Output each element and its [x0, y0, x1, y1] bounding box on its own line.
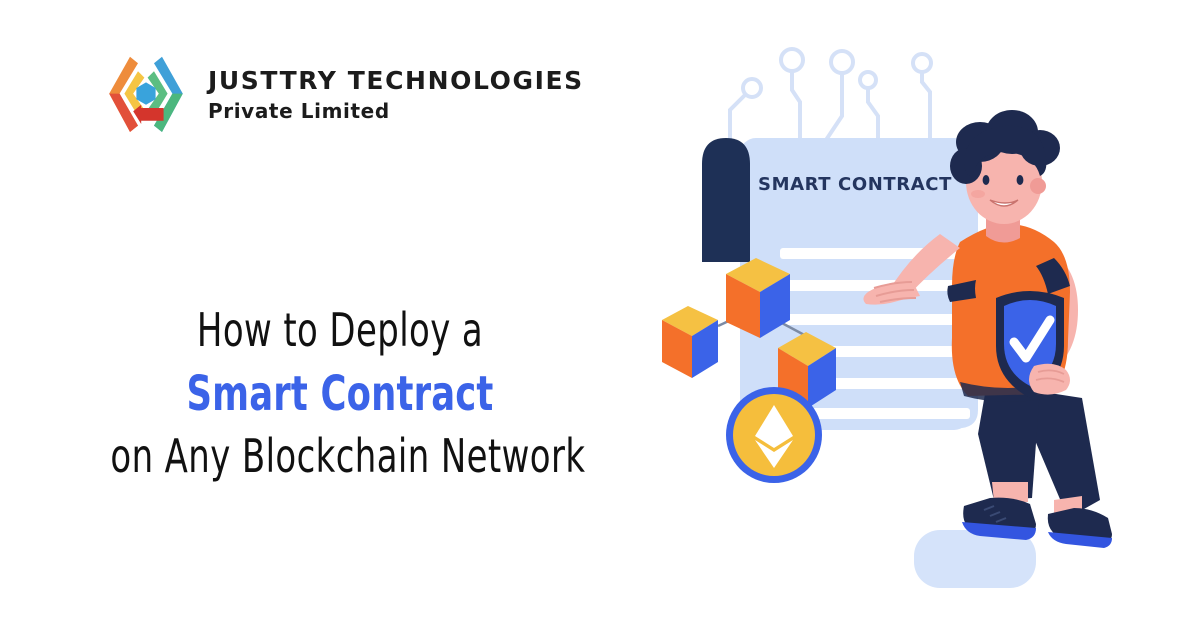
- person-back-shoe: [1048, 496, 1112, 548]
- banner-canvas: JUSTTRY TECHNOLOGIES Private Limited How…: [0, 0, 1200, 628]
- headline-line-2-accent: Smart Contract: [110, 362, 569, 426]
- document-title: SMART CONTRACT: [758, 174, 952, 195]
- brand-name: JUSTTRY TECHNOLOGIES: [208, 66, 584, 96]
- brand-text-block: JUSTTRY TECHNOLOGIES Private Limited: [208, 64, 584, 125]
- brand-logo-block: JUSTTRY TECHNOLOGIES Private Limited: [98, 52, 584, 136]
- circuit-traces-icon: [730, 49, 931, 140]
- brand-subtitle: Private Limited: [208, 98, 584, 124]
- document-bookmark-icon: [702, 138, 750, 262]
- headline-line-1: How to Deploy a: [110, 300, 569, 362]
- smart-contract-illustration: SMART CONTRACT: [630, 30, 1190, 610]
- blockchain-cube-left: [662, 306, 718, 378]
- headline-block: How to Deploy a Smart Contract on Any Bl…: [60, 300, 620, 488]
- justtry-hexagon-logo-icon: [98, 52, 194, 136]
- headline-line-3: on Any Blockchain Network: [110, 426, 569, 488]
- person-front-shoe: [962, 482, 1036, 540]
- ethereum-coin-icon: [726, 387, 822, 483]
